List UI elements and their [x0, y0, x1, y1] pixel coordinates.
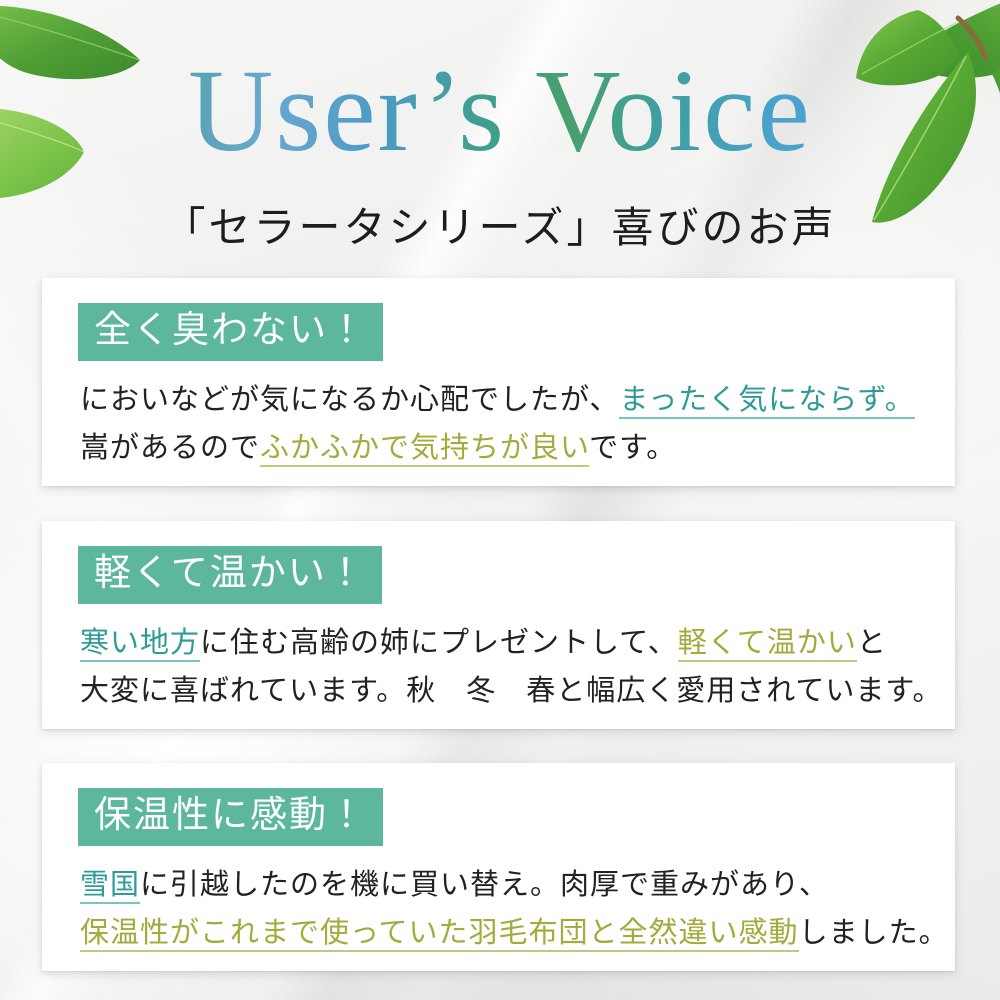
highlighted-text-run: 雪国	[80, 867, 140, 904]
text-run: と	[857, 625, 887, 659]
text-run: においなどが気になるか心配でしたが、	[80, 382, 619, 416]
text-run: です。	[589, 430, 676, 464]
text-run: 大変に喜ばれています。秋 冬 春と幅広く愛用されています。	[80, 673, 942, 707]
page-header: User’s Voice 「セラータシリーズ」喜びのお声	[0, 0, 1000, 255]
testimonial-line: 大変に喜ばれています。秋 冬 春と幅広く愛用されています。	[80, 666, 955, 714]
highlighted-text-run: 保温性がこれまで使っていた羽毛布団と全然違い感動	[80, 915, 799, 952]
testimonial-line: 嵩があるのでふかふかで気持ちが良いです。	[80, 423, 955, 471]
testimonial-body: 寒い地方に住む高齢の姉にプレゼントして、軽くて温かいと 大変に喜ばれています。秋…	[80, 618, 955, 714]
testimonial-headline-badge: 全く臭わない！	[78, 303, 383, 361]
text-run: しました。	[799, 915, 949, 949]
testimonial-line: 保温性がこれまで使っていた羽毛布団と全然違い感動しました。	[80, 908, 955, 956]
text-run: に引越したのを機に買い替え。肉厚で重みがあり、	[140, 867, 829, 901]
testimonial-card: 全く臭わない！ においなどが気になるか心配でしたが、まったく気にならず。 嵩があ…	[42, 278, 955, 486]
text-run: に住む高齢の姉にプレゼントして、	[200, 625, 678, 659]
page-title: User’s Voice	[0, 52, 1000, 170]
testimonial-line: 雪国に引越したのを機に買い替え。肉厚で重みがあり、	[80, 860, 955, 908]
highlighted-text-run: 寒い地方	[80, 625, 200, 662]
text-run: 嵩があるので	[80, 430, 260, 464]
testimonial-line: 寒い地方に住む高齢の姉にプレゼントして、軽くて温かいと	[80, 618, 955, 666]
testimonial-headline-badge: 保温性に感動！	[78, 788, 383, 846]
highlighted-text-run: 軽くて温かい	[678, 625, 857, 662]
testimonial-headline-badge: 軽くて温かい！	[78, 546, 382, 604]
testimonial-card: 軽くて温かい！ 寒い地方に住む高齢の姉にプレゼントして、軽くて温かいと 大変に喜…	[42, 521, 955, 729]
page-subtitle: 「セラータシリーズ」喜びのお声	[0, 194, 1000, 255]
testimonial-card: 保温性に感動！ 雪国に引越したのを機に買い替え。肉厚で重みがあり、 保温性がこれ…	[42, 763, 955, 971]
highlighted-text-run: まったく気にならず。	[619, 382, 914, 419]
highlighted-text-run: ふかふかで気持ちが良い	[260, 430, 589, 467]
testimonial-line: においなどが気になるか心配でしたが、まったく気にならず。	[80, 375, 955, 423]
testimonial-body: においなどが気になるか心配でしたが、まったく気にならず。 嵩があるのでふかふかで…	[80, 375, 955, 471]
testimonial-body: 雪国に引越したのを機に買い替え。肉厚で重みがあり、 保温性がこれまで使っていた羽…	[80, 860, 955, 956]
